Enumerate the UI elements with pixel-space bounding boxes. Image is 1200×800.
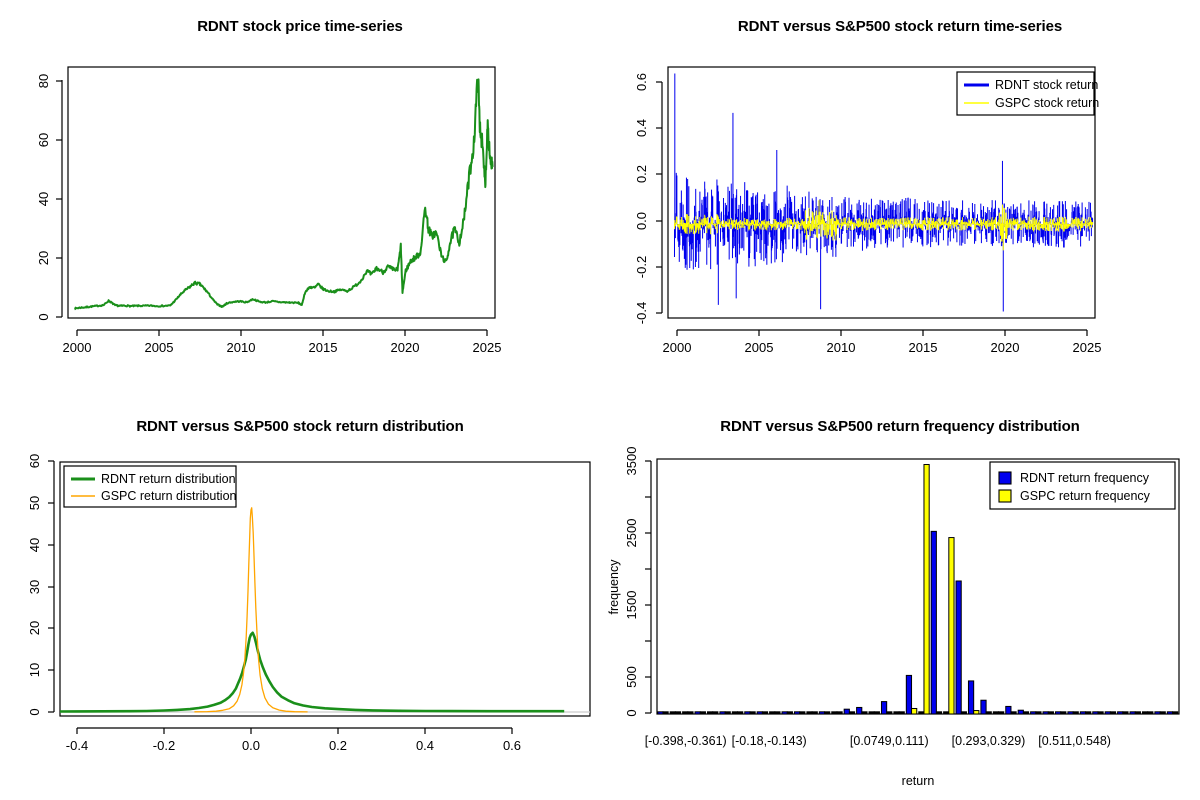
- histogram-bar: [732, 712, 737, 714]
- histogram-bar: [899, 712, 904, 714]
- histogram-bar: [1098, 712, 1103, 714]
- x-axis-label: return: [902, 774, 935, 788]
- histogram-bin-label: [-0.18,-0.143): [732, 734, 807, 748]
- legend-swatch-gspc: [999, 490, 1011, 502]
- histogram-bar: [887, 712, 892, 714]
- x-tick-2025: 2025: [473, 340, 502, 355]
- y-tick-3500: 3500: [624, 447, 639, 476]
- legend-label-gspc: GSPC stock return: [995, 96, 1099, 110]
- histogram-bar: [775, 712, 780, 714]
- histogram-bar: [1011, 712, 1016, 714]
- histogram-bar: [993, 712, 998, 714]
- histogram-bin-label: [-0.398,-0.361): [645, 734, 727, 748]
- x-tick-2015: 2015: [909, 340, 938, 355]
- histogram-bar: [770, 712, 775, 714]
- histogram-bar: [738, 712, 743, 714]
- histogram-bar: [658, 712, 663, 714]
- y-tick-00: 0.0: [634, 212, 649, 230]
- y-tick-60: 60: [27, 454, 42, 468]
- histogram-bar: [663, 712, 668, 714]
- histogram-bar: [675, 712, 680, 714]
- price-plot-svg: 0 20 40 60 80 2000 2005 2010 2015 2020: [0, 0, 600, 400]
- histogram-bar: [1148, 712, 1153, 714]
- x-tick-2005: 2005: [745, 340, 774, 355]
- histogram-bar: [961, 712, 966, 714]
- return-ts-plot-svg: -0.4 -0.2 0.0 0.2 0.4 0.6 2000 2005 2010…: [600, 0, 1200, 400]
- histogram-bar: [1031, 712, 1036, 714]
- histogram-bar: [713, 712, 718, 714]
- y-axis-label: frequency: [607, 559, 621, 615]
- histogram-bar: [812, 712, 817, 714]
- histogram-bin-label: [0.511,0.548): [1038, 734, 1111, 748]
- legend-label-gspc: GSPC return frequency: [1020, 489, 1151, 503]
- histogram-bar: [782, 712, 787, 714]
- histogram-bar: [869, 712, 874, 714]
- histogram-bar: [1135, 712, 1140, 714]
- histogram-bar: [1160, 712, 1165, 714]
- histogram-bar: [1073, 712, 1078, 714]
- histogram-bar: [974, 711, 979, 714]
- plot-frame: [68, 67, 495, 318]
- histogram-bar: [1036, 712, 1041, 714]
- x-tick-2020: 2020: [991, 340, 1020, 355]
- y-tick-20: 20: [36, 251, 51, 265]
- histogram-bar: [683, 712, 688, 714]
- density-plot-svg: 0 10 20 30 40 50 60 -0.4 -0.2 0.0 0.2: [0, 400, 600, 800]
- histogram-bin-label: [0.0749,0.111): [850, 734, 929, 748]
- panel-return-timeseries: RDNT versus S&P500 stock return time-ser…: [600, 0, 1200, 400]
- histogram-bar: [1006, 706, 1011, 714]
- histogram-bar: [931, 531, 936, 714]
- y-tick-0: 0: [624, 709, 639, 716]
- y-tick-n02: -0.2: [634, 256, 649, 278]
- histogram-bar: [1018, 710, 1023, 714]
- y-tick-0: 0: [27, 708, 42, 715]
- x-tick-2010: 2010: [827, 340, 856, 355]
- histogram-bar: [762, 712, 767, 714]
- legend-label-rdnt: RDNT stock return: [995, 78, 1098, 92]
- histogram-bar: [1093, 712, 1098, 714]
- y-tick-40: 40: [27, 538, 42, 552]
- y-tick-04: 0.4: [634, 119, 649, 137]
- panel-price-timeseries: RDNT stock price time-series 0 20 40 60 …: [0, 0, 600, 400]
- y-tick-20: 20: [27, 621, 42, 635]
- legend-label-rdnt: RDNT return distribution: [101, 472, 236, 486]
- histogram-bar: [1055, 712, 1060, 714]
- legend-density: RDNT return distribution GSPC return dis…: [64, 466, 237, 507]
- histogram-bar: [1123, 712, 1128, 714]
- rdnt-density-line: [60, 633, 564, 712]
- y-tick-500: 500: [624, 666, 639, 688]
- y-tick-60: 60: [36, 133, 51, 147]
- histogram-bar: [1061, 712, 1066, 714]
- histogram-bar: [1105, 712, 1110, 714]
- histogram-bar: [1110, 712, 1115, 714]
- histogram-bar: [894, 712, 899, 714]
- x-tick-n02: -0.2: [153, 738, 175, 753]
- histogram-bar: [800, 712, 805, 714]
- y-axis: -0.4 -0.2 0.0 0.2 0.4 0.6: [634, 73, 662, 324]
- histogram-bar: [857, 707, 862, 714]
- histogram-bar: [807, 712, 812, 714]
- gspc-density-line: [194, 508, 307, 712]
- x-tick-2000: 2000: [63, 340, 92, 355]
- histogram-bar: [1130, 712, 1135, 714]
- histogram-bar: [720, 712, 725, 714]
- x-tick-2015: 2015: [309, 340, 338, 355]
- x-tick-02: 0.2: [329, 738, 347, 753]
- histogram-bar: [1048, 712, 1053, 714]
- histogram-bar: [695, 712, 700, 714]
- histogram-bar: [787, 712, 792, 714]
- legend-return-ts: RDNT stock return GSPC stock return: [957, 72, 1099, 115]
- legend-label-rdnt: RDNT return frequency: [1020, 471, 1150, 485]
- histogram-bar: [1080, 712, 1085, 714]
- y-tick-50: 50: [27, 496, 42, 510]
- histogram-bar: [688, 712, 693, 714]
- histogram-bar: [757, 712, 762, 714]
- histogram-bar: [832, 712, 837, 714]
- x-tick-2020: 2020: [391, 340, 420, 355]
- histogram-bar: [707, 712, 712, 714]
- x-tick-2025: 2025: [1073, 340, 1102, 355]
- histogram-bar: [919, 712, 924, 714]
- histogram-bar: [745, 712, 750, 714]
- x-tick-00: 0.0: [242, 738, 260, 753]
- y-tick-n04: -0.4: [634, 302, 649, 324]
- y-tick-02: 0.2: [634, 165, 649, 183]
- histogram-bar: [986, 712, 991, 714]
- histogram-bar: [1155, 712, 1160, 714]
- legend-histogram: RDNT return frequency GSPC return freque…: [990, 462, 1175, 509]
- histogram-bar: [670, 712, 675, 714]
- histogram-bar: [725, 712, 730, 714]
- y-axis: 0 10 20 30 40 50 60: [27, 454, 54, 716]
- histogram-bar: [862, 712, 867, 714]
- y-tick-06: 0.6: [634, 73, 649, 91]
- x-tick-2005: 2005: [145, 340, 174, 355]
- histogram-bar: [700, 712, 705, 714]
- x-axis: 2000 2005 2010 2015 2020 2025: [63, 330, 502, 355]
- histogram-bar: [981, 700, 986, 714]
- y-tick-0: 0: [36, 313, 51, 320]
- histogram-bar: [750, 712, 755, 714]
- price-series-line: [75, 79, 493, 309]
- x-tick-n04: -0.4: [66, 738, 88, 753]
- histogram-bar: [906, 675, 911, 714]
- y-tick-30: 30: [27, 580, 42, 594]
- legend-swatch-rdnt: [999, 472, 1011, 484]
- histogram-bar: [881, 702, 886, 714]
- x-tick-2010: 2010: [227, 340, 256, 355]
- histogram-bar: [825, 712, 830, 714]
- histogram-bar: [819, 712, 824, 714]
- histogram-bar: [1118, 712, 1123, 714]
- y-tick-2500: 2500: [624, 519, 639, 548]
- histogram-bar: [1167, 712, 1172, 714]
- histogram-bar: [1043, 712, 1048, 714]
- histogram-bar: [944, 712, 949, 714]
- figure-panel-grid: RDNT stock price time-series 0 20 40 60 …: [0, 0, 1200, 800]
- histogram-bar: [936, 712, 941, 714]
- histogram-bar: [837, 712, 842, 714]
- histogram-bar: [1086, 712, 1091, 714]
- histogram-bar: [844, 709, 849, 714]
- histogram-bar: [1068, 712, 1073, 714]
- y-tick-80: 80: [36, 74, 51, 88]
- histogram-bar: [912, 708, 917, 714]
- x-tick-06: 0.6: [503, 738, 521, 753]
- x-axis: 2000 2005 2010 2015 2020 2025: [663, 330, 1102, 355]
- histogram-bar: [1142, 712, 1147, 714]
- y-axis: 0 20 40 60 80: [36, 74, 62, 321]
- histogram-bar: [794, 712, 799, 714]
- histogram-bar: [924, 465, 929, 714]
- legend-label-gspc: GSPC return distribution: [101, 489, 237, 503]
- histogram-bin-label: [0.293,0.329): [952, 734, 1026, 748]
- histogram-bin-labels: [-0.398,-0.361)[-0.18,-0.143)[0.0749,0.1…: [645, 734, 1111, 748]
- histogram-bar: [849, 712, 854, 714]
- histogram-bar: [968, 681, 973, 714]
- panel-return-density: RDNT versus S&P500 stock return distribu…: [0, 400, 600, 800]
- histogram-bar: [1023, 712, 1028, 714]
- histogram-bar: [956, 581, 961, 714]
- y-tick-10: 10: [27, 663, 42, 677]
- panel-return-histogram: RDNT versus S&P500 return frequency dist…: [600, 400, 1200, 800]
- y-axis: 0 500 1500 2500 3500 frequency: [607, 447, 651, 717]
- histogram-bar: [874, 712, 879, 714]
- histogram-plot-svg: 0 500 1500 2500 3500 frequency [-0.398,-…: [600, 400, 1200, 800]
- x-tick-2000: 2000: [663, 340, 692, 355]
- y-tick-40: 40: [36, 192, 51, 206]
- x-tick-04: 0.4: [416, 738, 434, 753]
- histogram-bar: [949, 538, 954, 714]
- x-axis: -0.4 -0.2 0.0 0.2 0.4 0.6: [66, 728, 521, 753]
- histogram-bar: [1173, 712, 1178, 714]
- y-tick-1500: 1500: [624, 591, 639, 620]
- histogram-bar: [999, 712, 1004, 714]
